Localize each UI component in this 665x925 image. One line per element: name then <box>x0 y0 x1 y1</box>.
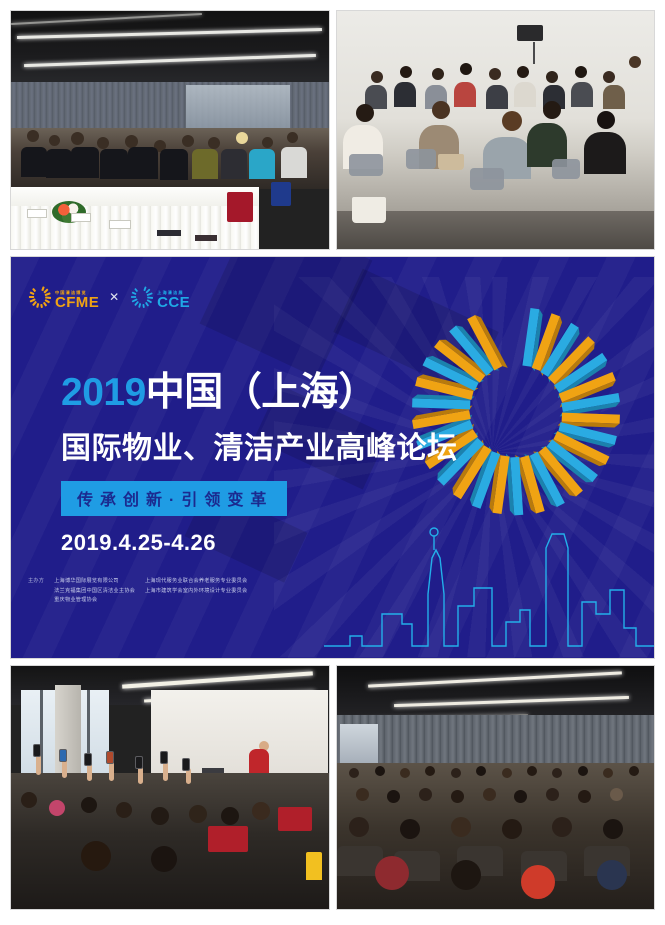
logo-cce: 上海清洁展 CCE <box>129 284 190 310</box>
banner-title-line2: 国际物业、清洁产业高峰论坛 <box>61 423 481 467</box>
cfme-en-label: CFME <box>55 295 99 310</box>
organizer-item: 重庆物业管理协会 <box>54 596 135 606</box>
banner-title-rest: 中国（上海） <box>146 371 377 414</box>
cce-burst-icon <box>129 284 155 310</box>
cfme-burst-icon <box>27 284 53 310</box>
organizers-label: 主办方 <box>28 577 44 606</box>
organizer-item: 法兰克福集团中国区清洁业主协会 <box>54 587 135 597</box>
photo-phones-raised <box>10 665 330 910</box>
banner-logos: 中国清洁博览 CFME ✕ <box>27 284 190 310</box>
photo-row-bottom <box>10 665 655 910</box>
banner-year: 2019 <box>61 371 146 414</box>
banner-title-line1: 2019中国（上海） <box>61 361 481 417</box>
banner-headline: 2019中国（上海） 国际物业、清洁产业高峰论坛 传承创新·引领变革 2019.… <box>61 361 481 556</box>
banner-dates: 2019.4.25-4.26 <box>61 530 481 556</box>
event-banner: 中国清洁博览 CFME ✕ <box>10 256 655 659</box>
organizer-item: 上海现代服务业联合会养老服务专业委员会 <box>145 577 247 587</box>
photo-packed-auditorium <box>336 665 656 910</box>
logo-cfme: 中国清洁博览 CFME <box>27 284 99 310</box>
photo-seated-audience <box>336 10 656 250</box>
logo-separator-icon: ✕ <box>109 290 119 304</box>
cce-en-label: CCE <box>157 295 190 310</box>
banner-tagline: 传承创新·引领变革 <box>61 481 287 516</box>
photo-vip-table-audience <box>10 10 330 250</box>
photo-row-top <box>10 10 655 250</box>
organizer-item: 上海市建筑学会室内外环境设计专业委员会 <box>145 587 247 597</box>
organizers-column-1: 上海博华国际展览有限公司 法兰克福集团中国区清洁业主协会 重庆物业管理协会 <box>54 577 135 606</box>
banner-organizers: 主办方 上海博华国际展览有限公司 法兰克福集团中国区清洁业主协会 重庆物业管理协… <box>28 577 247 606</box>
poster-page: 中国清洁博览 CFME ✕ <box>0 0 665 925</box>
organizers-column-2: 上海现代服务业联合会养老服务专业委员会 上海市建筑学会室内外环境设计专业委员会 <box>145 577 247 606</box>
organizer-item: 上海博华国际展览有限公司 <box>54 577 135 587</box>
